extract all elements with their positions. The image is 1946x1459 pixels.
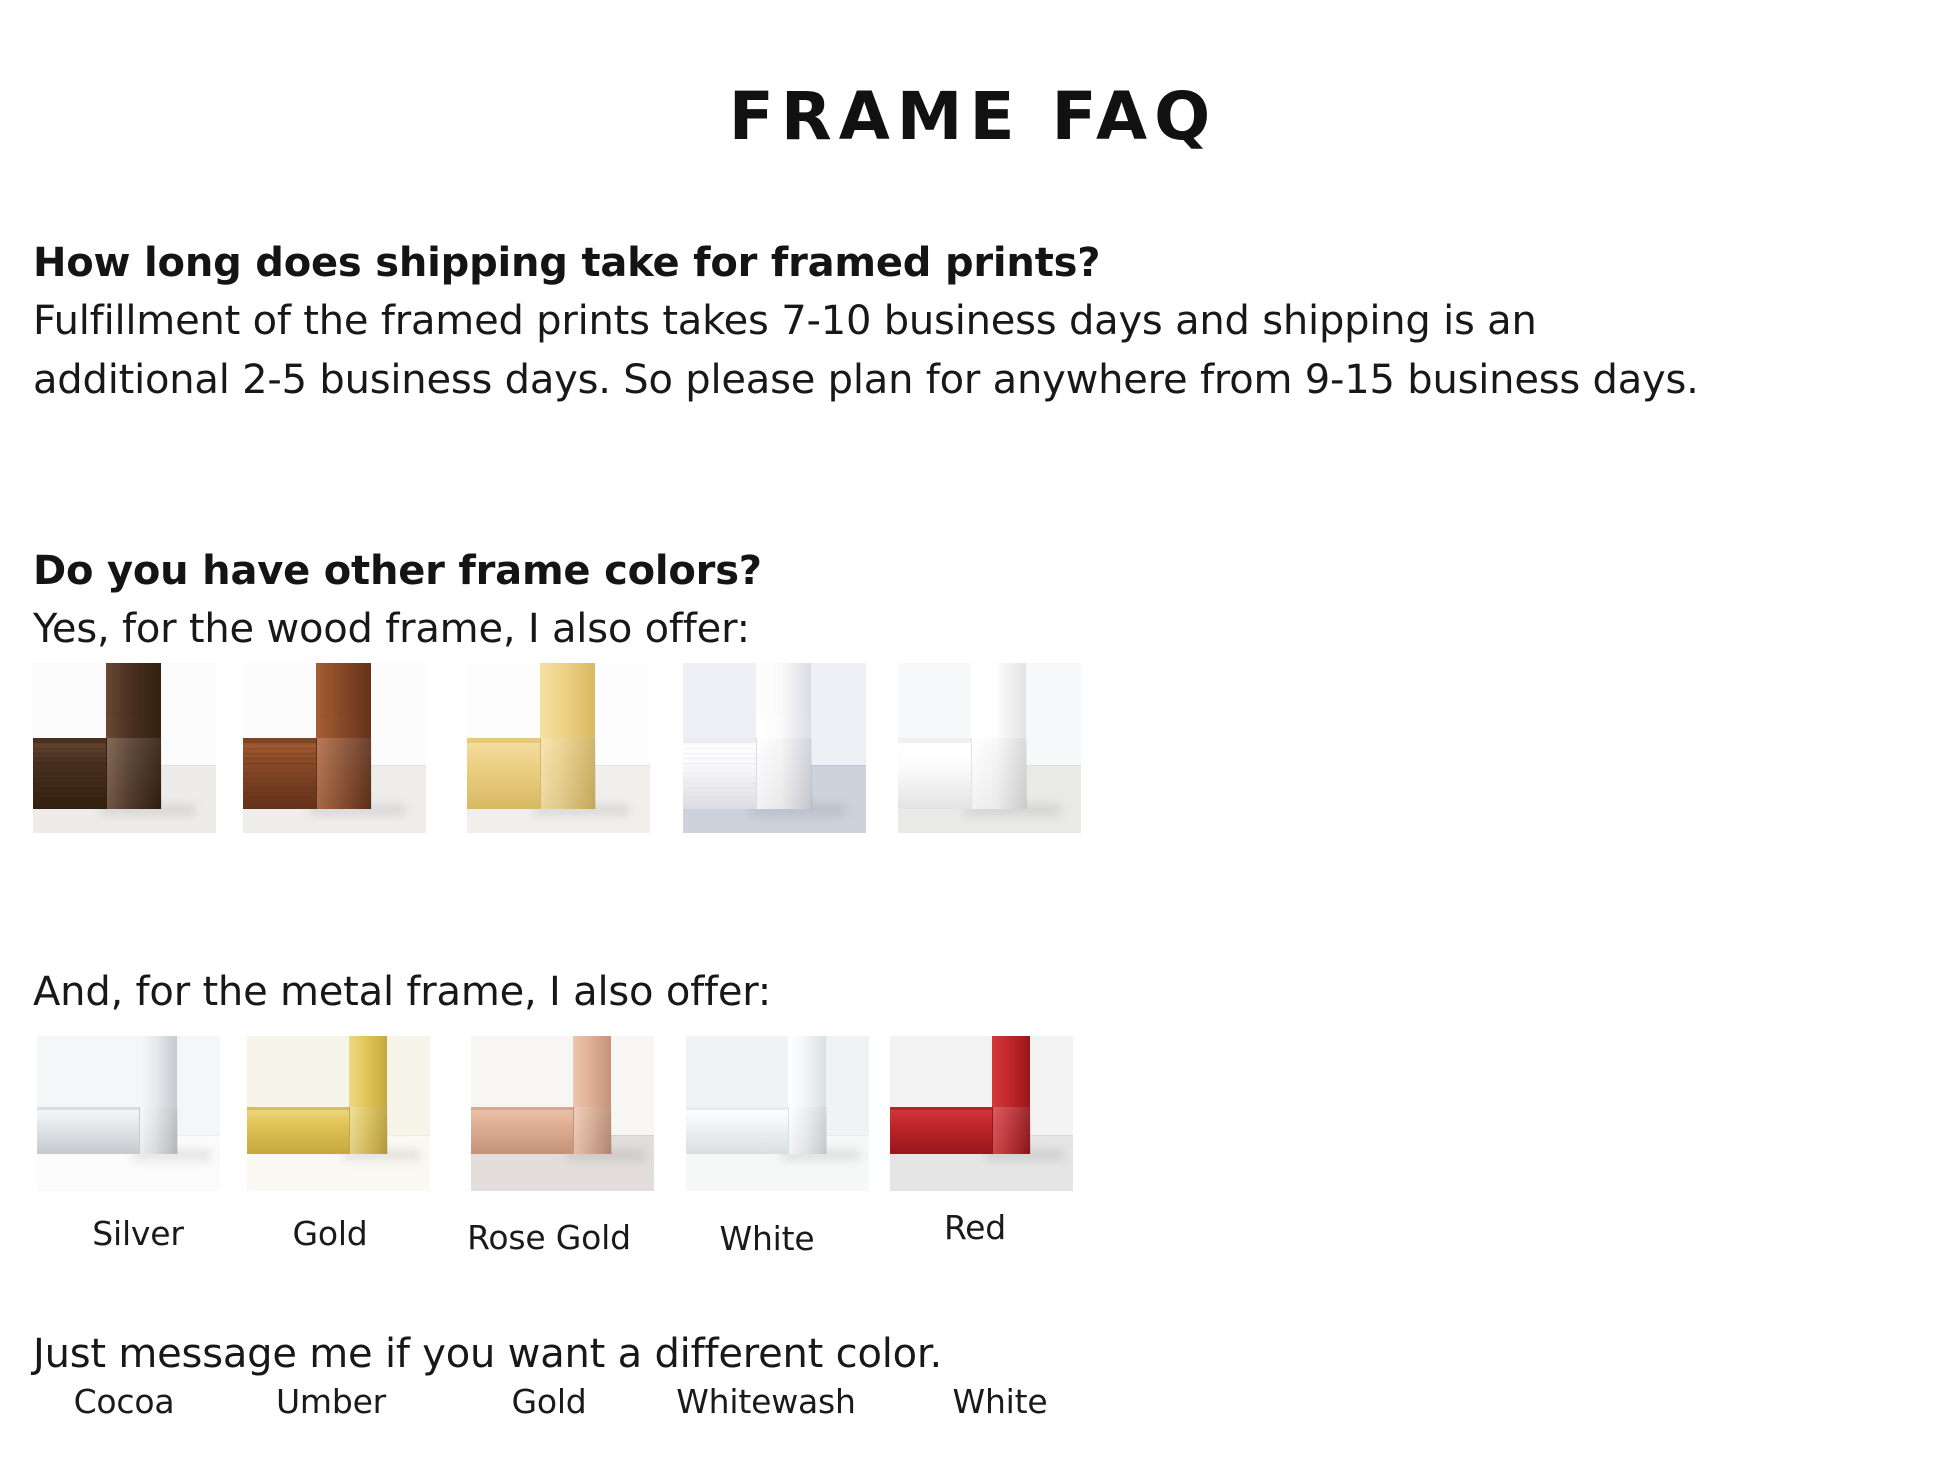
- frame-miter-joint: [106, 738, 162, 809]
- metal-frame-intro: And, for the metal frame, I also offer:: [33, 963, 771, 1022]
- faq-answer-shipping-line-1: Fulfillment of the framed prints takes 7…: [33, 292, 1913, 351]
- frame-swatch-label: White: [850, 1382, 1150, 1421]
- frame-swatch-rose-gold[interactable]: [471, 1036, 654, 1191]
- frame-swatch-red[interactable]: [890, 1036, 1073, 1191]
- frame-swatch-cocoa[interactable]: [33, 663, 216, 833]
- faq-page: FRAME FAQ How long does shipping take fo…: [0, 0, 1946, 1459]
- closing-message: Just message me if you want a different …: [33, 1325, 942, 1384]
- frame-swatch-white[interactable]: [686, 1036, 869, 1191]
- frame-miter-joint: [756, 738, 812, 809]
- frame-miter-joint: [573, 1107, 612, 1154]
- frame-swatch-gold[interactable]: [247, 1036, 430, 1191]
- faq-question-colors: Do you have other frame colors?: [33, 542, 1913, 600]
- faq-item-colors: Do you have other frame colors?: [33, 542, 1913, 600]
- frame-swatch-white[interactable]: [898, 663, 1081, 833]
- page-title: FRAME FAQ: [0, 84, 1946, 150]
- frame-miter-joint: [139, 1107, 178, 1154]
- wood-frame-intro: Yes, for the wood frame, I also offer:: [33, 600, 750, 659]
- frame-swatch-silver[interactable]: [37, 1036, 220, 1191]
- frame-miter-joint: [349, 1107, 388, 1154]
- frame-swatch-umber[interactable]: [243, 663, 426, 833]
- faq-question-shipping: How long does shipping take for framed p…: [33, 234, 1913, 292]
- frame-swatch-label: Red: [825, 1208, 1125, 1247]
- frame-swatch-gold[interactable]: [467, 663, 650, 833]
- faq-item-shipping: How long does shipping take for framed p…: [33, 234, 1913, 410]
- frame-swatch-whitewash[interactable]: [683, 663, 866, 833]
- frame-miter-joint: [316, 738, 372, 809]
- faq-answer-shipping-line-2: additional 2-5 business days. So please …: [33, 351, 1913, 410]
- frame-miter-joint: [971, 738, 1027, 809]
- frame-miter-joint: [992, 1107, 1031, 1154]
- frame-miter-joint: [540, 738, 596, 809]
- frame-miter-joint: [788, 1107, 827, 1154]
